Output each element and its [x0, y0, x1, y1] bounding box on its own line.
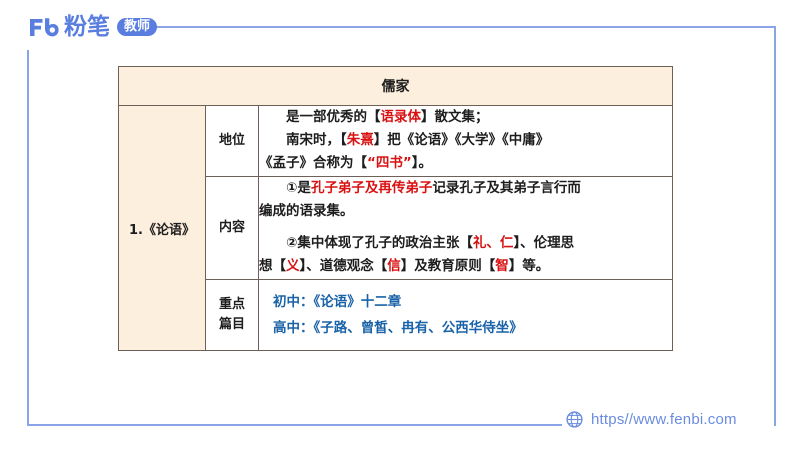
section-body-neirong: ①是孔子弟子及再传弟子记录孔子及其弟子言行而 编成的语录集。 ②集中体现了孔子的… [259, 176, 673, 279]
table-header-row: 儒家 [119, 67, 673, 106]
footer-url-block: https//www.fenbi.com [566, 411, 737, 428]
globe-icon [566, 411, 583, 428]
highlight-term: 朱熹 [347, 132, 374, 148]
text-line: ①是孔子弟子及再传弟子记录孔子及其弟子言行而 [259, 177, 672, 200]
key-text-junior: 初中：《论语》十二章 [259, 289, 672, 315]
frame-top-line [150, 26, 776, 28]
text-line: 想【义】、道德观念【信】及教育原则【智】等。 [259, 255, 672, 278]
label-line-2: 篇目 [206, 315, 258, 335]
text-line: 是一部优秀的【语录体】散文集； [259, 106, 672, 129]
fb-logo-icon [27, 15, 59, 39]
text-line: ②集中体现了孔子的政治主张【礼、仁】、伦理思 [259, 232, 672, 255]
text-line: 南宋时，【朱熹】把《论语》《大学》《中庸》 [259, 129, 672, 152]
highlight-term: 义 [286, 258, 300, 274]
highlight-term: 语录体 [381, 109, 422, 125]
highlight-term: 孔子弟子及再传弟子 [311, 180, 433, 196]
brand-name: 粉笔 [64, 16, 110, 39]
section-label-zhongdian-pianmu: 重点 篇目 [206, 279, 259, 351]
label-line-1: 重点 [206, 295, 258, 315]
highlight-term: 智 [495, 258, 509, 274]
text-line: 编成的语录集。 [259, 200, 672, 223]
table-row: 1.《论语》 地位 是一部优秀的【语录体】散文集； 南宋时，【朱熹】把《论语》《… [119, 106, 673, 177]
key-text-senior: 高中：《子路、曾皙、冉有、公西华侍坐》 [259, 315, 672, 341]
brand-logo: 粉笔 教师 [27, 12, 157, 42]
text-line: 《孟子》合称为【“四书”】。 [259, 152, 672, 175]
footer-url-text: https//www.fenbi.com [591, 411, 737, 428]
highlight-term: 礼、仁 [473, 235, 514, 251]
section-label-diwei: 地位 [206, 106, 259, 177]
highlight-term: 信 [387, 258, 401, 274]
section-body-zhongdian-pianmu: 初中：《论语》十二章 高中：《子路、曾皙、冉有、公西华侍坐》 [259, 279, 673, 351]
table-title-cell: 儒家 [119, 67, 673, 106]
brand-badge: 教师 [117, 18, 157, 36]
row-label-lunyu: 1.《论语》 [119, 106, 206, 351]
confucian-classics-table: 儒家 1.《论语》 地位 是一部优秀的【语录体】散文集； 南宋时，【朱熹】把《论… [118, 66, 673, 351]
highlight-term: “四书” [367, 155, 412, 171]
section-body-diwei: 是一部优秀的【语录体】散文集； 南宋时，【朱熹】把《论语》《大学》《中庸》 《孟… [259, 106, 673, 177]
frame-right-line [774, 26, 776, 426]
frame-bottom-line [27, 424, 562, 426]
section-label-neirong: 内容 [206, 176, 259, 279]
frame-left-line [27, 50, 29, 426]
